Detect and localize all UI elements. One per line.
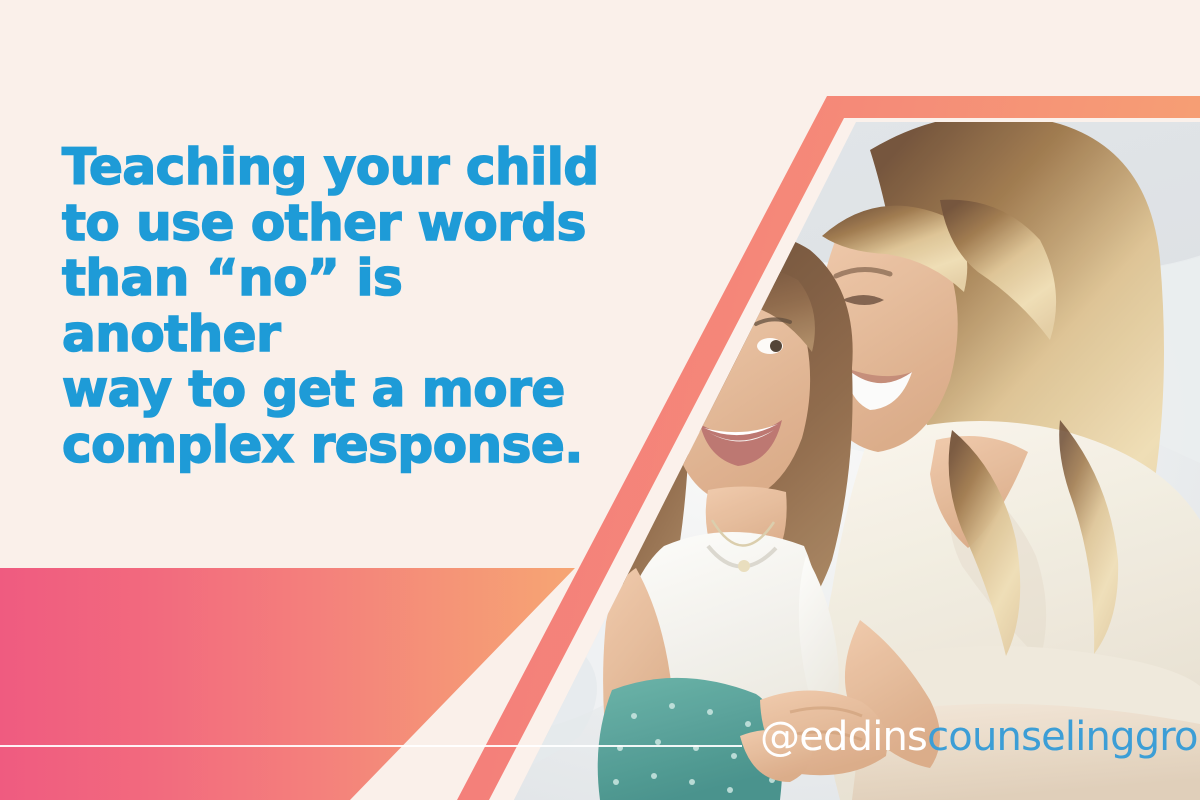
brand-handle-prefix: @eddins [760, 714, 927, 760]
divider-rule [0, 745, 742, 747]
social-graphic-canvas: Teaching your child to use other words t… [0, 0, 1200, 800]
brand-handle-suffix: counselinggroup [927, 714, 1200, 760]
brand-handle: @eddinscounselinggroup [760, 714, 1200, 760]
headline-text: Teaching your child to use other words t… [62, 140, 622, 473]
